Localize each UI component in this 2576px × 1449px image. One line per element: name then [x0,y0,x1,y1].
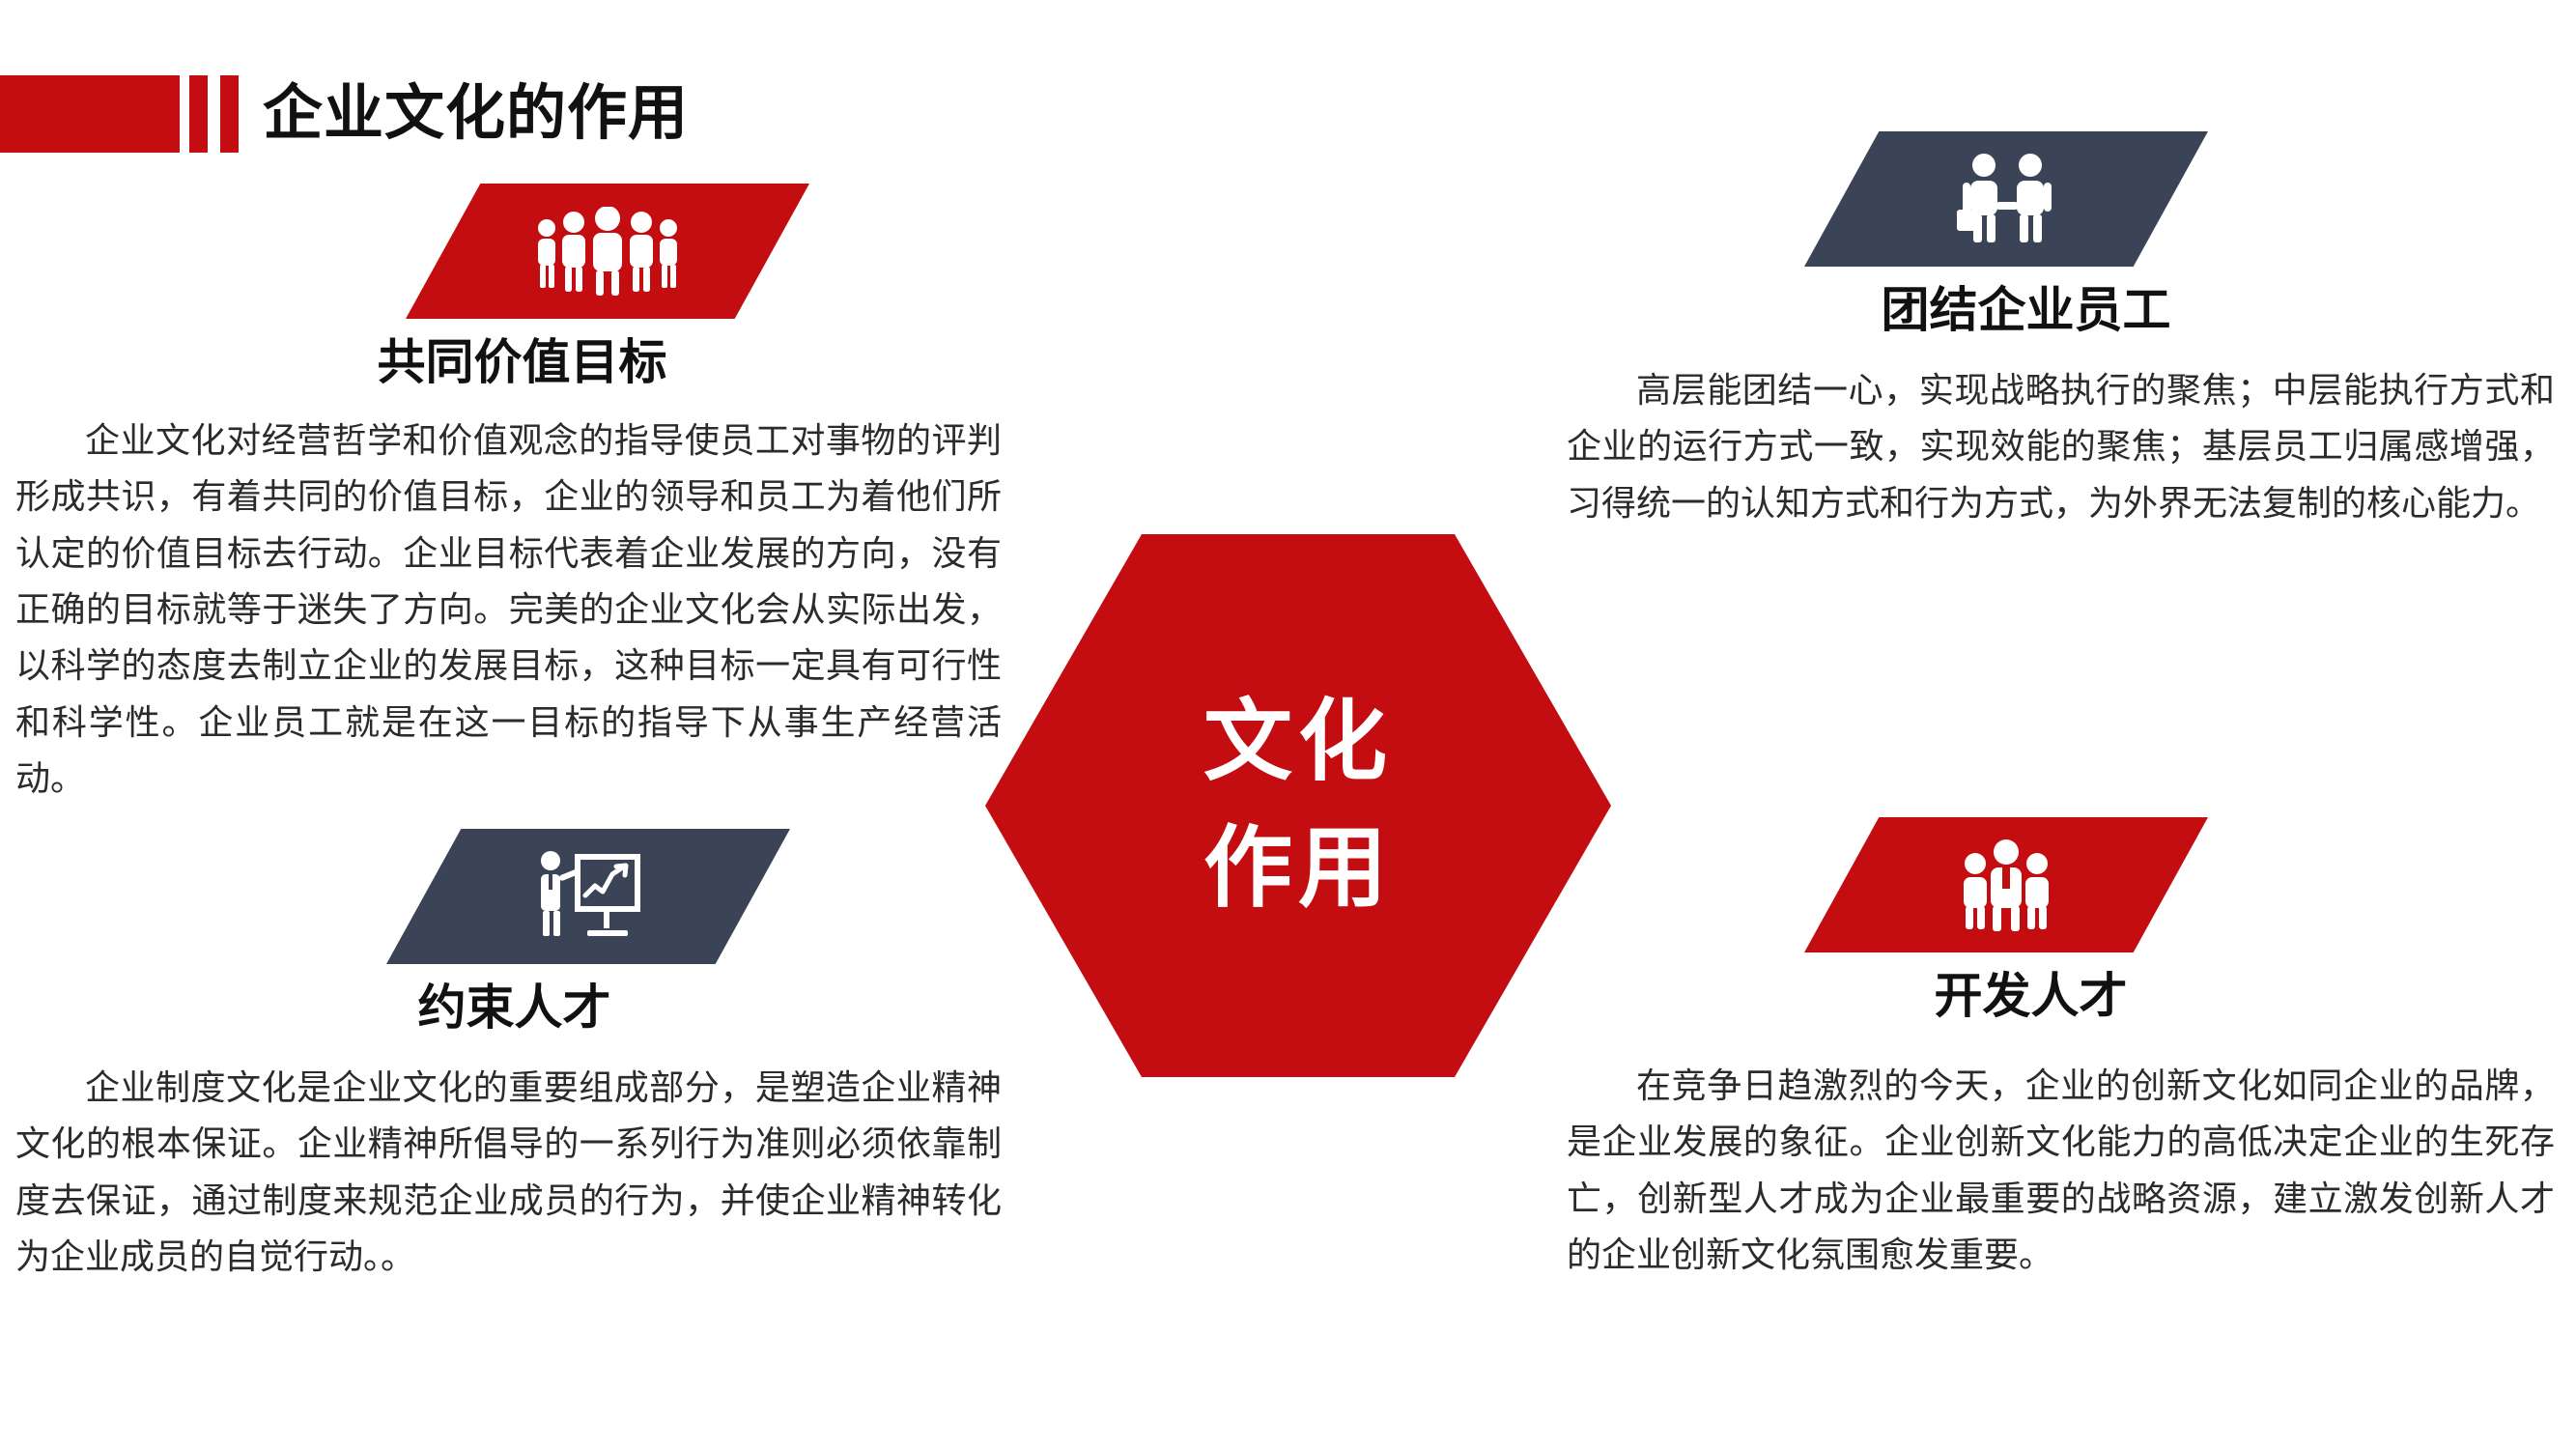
section-title-bottom-right: 开发人才 [1486,970,2576,1023]
panel-bottom-right: 开发人才 在竞争日趋激烈的今天，企业的创新文化如同企业的品牌，是企业发展的象征。… [1557,817,2576,1283]
three-people-team-icon [1956,838,2056,931]
two-people-holding-hands-icon [1949,152,2063,246]
group-of-people-icon [530,207,685,296]
presenter-whiteboard-icon [531,849,645,944]
panel-top-left: 共同价值目标 企业文化对经营哲学和价值观念的指导使员工对事物的评判形成共识，有着… [0,184,1019,807]
banner-top-right [1804,131,2208,267]
page-title: 企业文化的作用 [263,73,689,155]
section-title-top-right: 团结企业员工 [1476,284,2576,337]
section-text-top-right: 高层能团结一心，实现战略执行的聚焦；中层能执行方式和企业的运行方式一致，实现效能… [1557,362,2576,531]
center-hexagon-line-1: 文化 [1203,679,1393,806]
section-text-top-left: 企业文化对经营哲学和价值观念的指导使员工对事物的评判形成共识，有着共同的价值目标… [0,412,1019,807]
banner-bottom-right [1804,817,2208,952]
center-hexagon-line-2: 作用 [1203,806,1393,932]
panel-bottom-left: 约束人才 企业制度文化是企业文化的重要组成部分，是塑造企业精神文化的根本保证。企… [0,829,1019,1285]
banner-top-left [406,184,809,319]
header-accent-block [0,75,180,153]
header-accent-bar-2 [220,75,239,153]
section-text-bottom-right: 在竞争日趋激烈的今天，企业的创新文化如同企业的品牌，是企业发展的象征。企业创新文… [1557,1058,2576,1283]
section-text-bottom-left: 企业制度文化是企业文化的重要组成部分，是塑造企业精神文化的根本保证。企业精神所倡… [0,1060,1019,1285]
section-title-top-left: 共同价值目标 [25,336,1019,389]
header-accent-bar-1 [189,75,208,153]
banner-bottom-left [386,829,790,964]
section-title-bottom-left: 约束人才 [10,981,1019,1035]
panel-top-right: 团结企业员工 高层能团结一心，实现战略执行的聚焦；中层能执行方式和企业的运行方式… [1557,131,2576,531]
